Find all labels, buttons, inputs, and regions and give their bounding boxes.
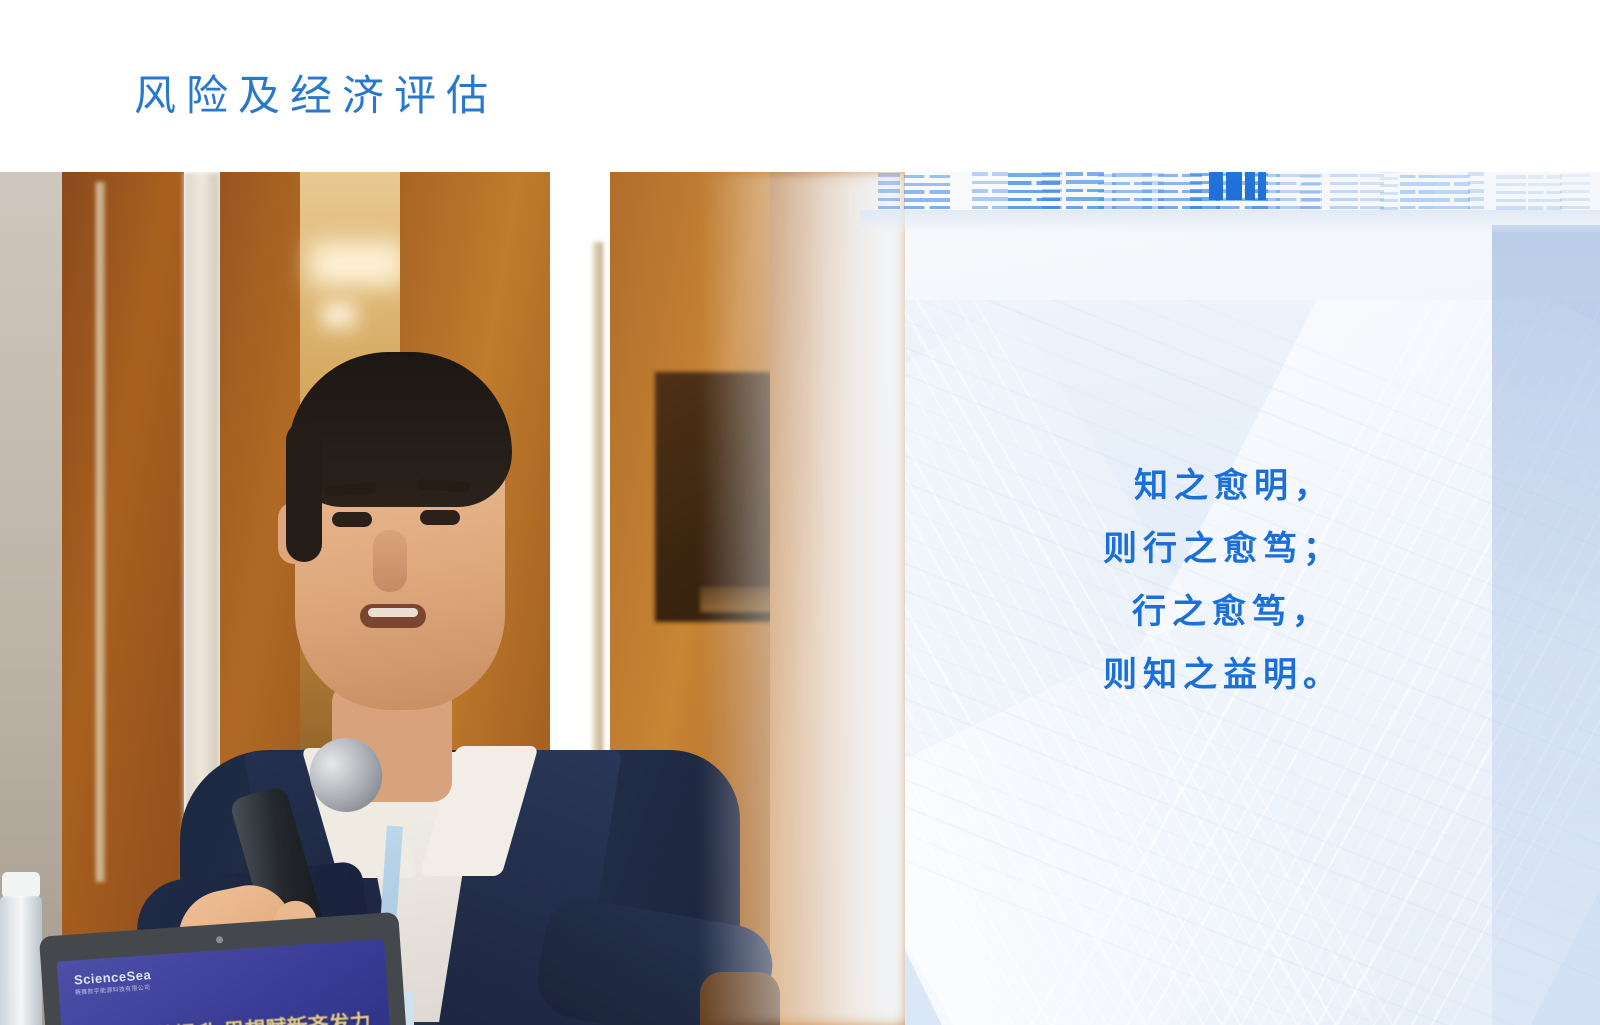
ceiling-light	[310, 242, 405, 286]
blue-accent-panel	[1492, 225, 1600, 1025]
presenter-photo: ScienceSea 赛赛数字能源科技有限公司 夯实根基共提升·思想赋新齐发力 …	[0, 172, 905, 1025]
eye-left	[332, 512, 372, 527]
quote-line-1: 知之愈明，	[1040, 455, 1400, 518]
slide-root: ScienceSea 赛赛数字能源科技有限公司 夯实根基共提升·思想赋新齐发力 …	[0, 0, 1600, 1025]
quote-line-4: 则知之益明。	[1040, 644, 1400, 707]
photo-fade-to-panel	[700, 172, 905, 1025]
nose	[373, 530, 407, 592]
page-title: 风险及经济评估	[134, 62, 498, 123]
water-bottle	[0, 872, 42, 1025]
eye-right	[420, 510, 460, 525]
bottle-body	[0, 896, 42, 1025]
header-bar: 风险及经济评估	[0, 0, 1600, 172]
teeth	[368, 608, 418, 617]
slide-title-on-screen: 夯实根基共提升·思想赋新齐发力	[69, 1005, 386, 1025]
quote-block: 知之愈明， 则行之愈笃； 行之愈笃， 则知之益明。	[1040, 455, 1400, 707]
quote-line-3: 行之愈笃，	[1040, 581, 1400, 644]
bottle-cap	[2, 872, 40, 898]
sciencesea-logo: ScienceSea 赛赛数字能源科技有限公司	[73, 967, 152, 996]
ceiling-light-small	[322, 302, 356, 328]
hair-side	[286, 422, 322, 562]
door-handle-1	[96, 182, 105, 882]
quote-line-2: 则行之愈笃；	[1040, 518, 1400, 581]
skyline-building	[1560, 166, 1590, 214]
